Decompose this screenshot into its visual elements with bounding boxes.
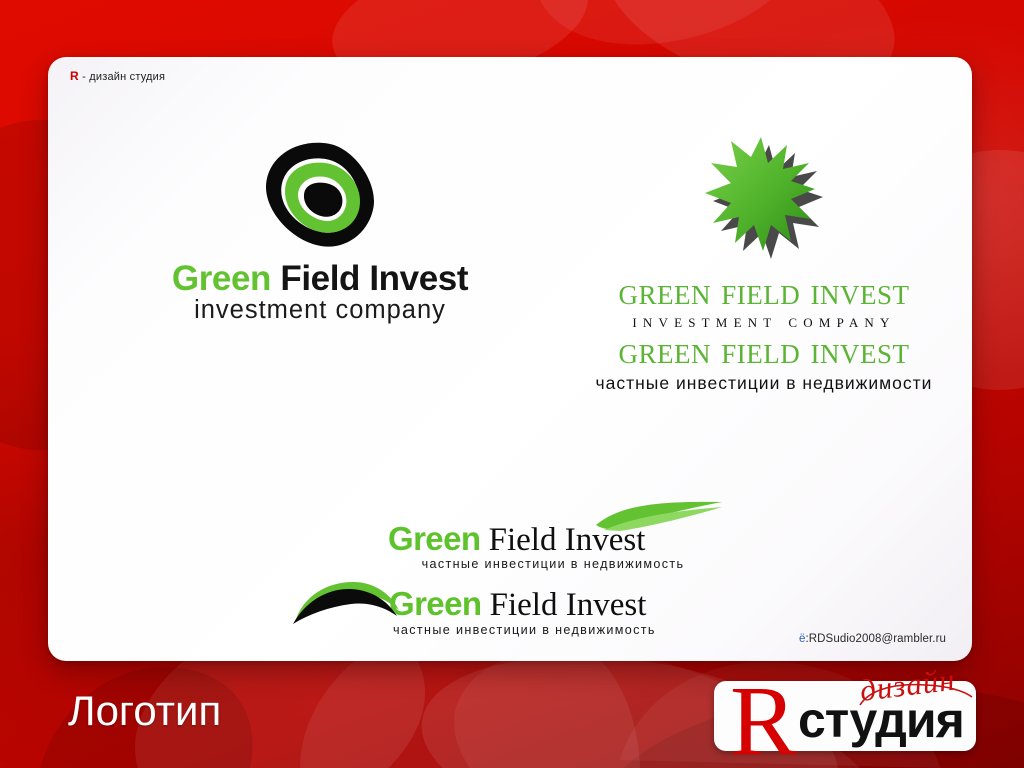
logo-variant-wave: Green Field Invest частные инвестиции в …	[293, 585, 723, 637]
logo4-word-black: Field Invest	[481, 587, 646, 623]
slide-canvas: R - дизайн студия Green Field Invest inv…	[0, 0, 1024, 768]
logo3-tagline: частные инвестиции в недвижимость	[388, 557, 718, 571]
swirl-triangle-icon	[261, 139, 379, 249]
logo1-word-green: Green	[172, 259, 271, 298]
logo3-word-green: Green	[388, 520, 480, 557]
logo-variant-swirl: Green Field Invest investment company	[110, 139, 530, 324]
logo2-tagline: частные инвестиции в недвижимости	[524, 374, 1004, 393]
page-title: Логотип	[68, 690, 221, 732]
wave-swoosh-icon	[293, 580, 403, 624]
leaf-swoosh-icon	[594, 501, 724, 531]
logo1-word-black: Field Invest	[271, 259, 468, 298]
contact-email[interactable]: ё:RDSudio2008@rambler.ru	[799, 633, 946, 645]
brand-letter-r: R	[70, 69, 79, 83]
logo1-wordmark: Green Field Invest	[110, 261, 530, 296]
logo1-tagline: investment company	[110, 297, 530, 324]
email-address: :RDSudio2008@rambler.ru	[805, 633, 946, 645]
logo-variant-leaf: Green Field Invest частные инвестиции в …	[388, 520, 718, 571]
logo2-line3: Green Field Invest	[524, 330, 1004, 371]
studio-logo-badge: R студия дизайн	[714, 681, 976, 751]
card-header: R - дизайн студия	[70, 69, 165, 83]
studio-letter-r: R	[730, 671, 797, 768]
logo4-wordmark: Green Field Invest	[293, 585, 723, 623]
logo4-tagline: частные инвестиции в недвижимость	[293, 623, 723, 637]
logo2-line1: Green Field Invest	[524, 271, 1004, 312]
logo-variant-starburst: Green Field Invest Investment Company Gr…	[524, 135, 1004, 393]
content-card: R - дизайн студия Green Field Invest inv…	[48, 57, 972, 661]
logo3-wordmark: Green Field Invest	[388, 520, 718, 556]
starburst-icon	[699, 135, 829, 265]
card-header-text: - дизайн студия	[82, 71, 165, 83]
